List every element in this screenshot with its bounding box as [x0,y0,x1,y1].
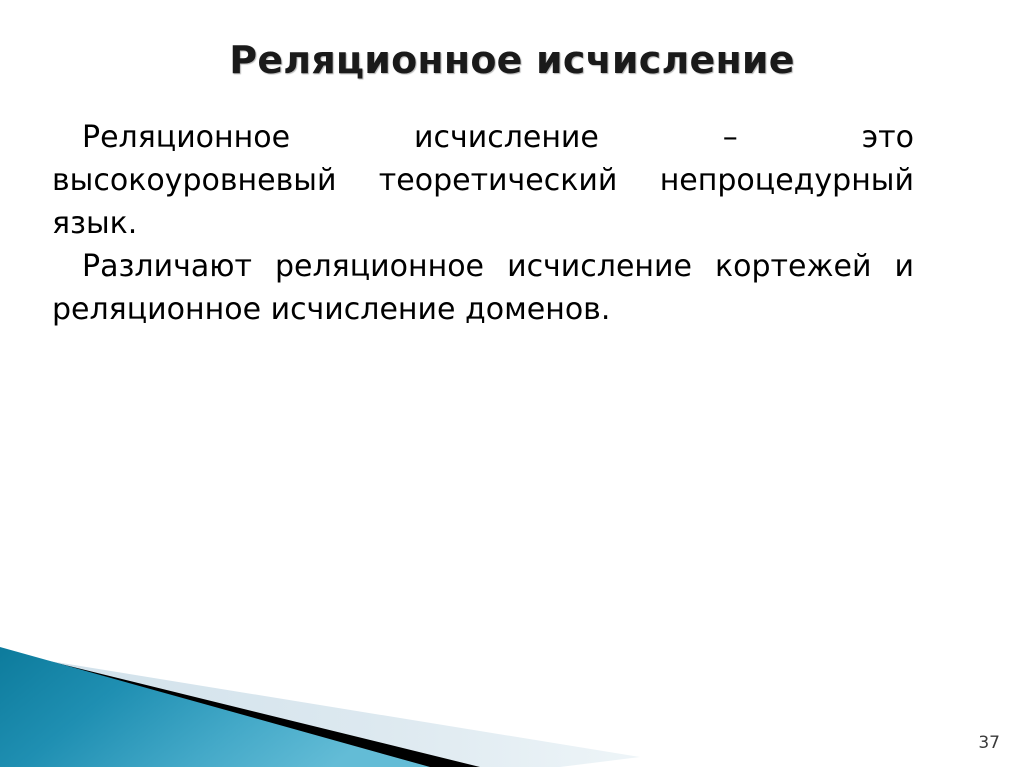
pale-blue-wedge [0,653,640,767]
body-paragraph-1-line-3: язык. [52,202,914,245]
slide: Реляционное исчисление Реляционное исчис… [0,0,1024,767]
slide-title-block: Реляционное исчисление [0,36,1024,84]
body-paragraph-2: Различают реляционное исчисление кортеже… [52,245,914,331]
slide-body: Реляционное исчисление – это высокоуровн… [52,116,914,331]
body-paragraph-1: Реляционное исчисление – это высокоуровн… [52,116,914,245]
body-paragraph-1-line-1: Реляционное исчисление – это [52,116,914,159]
page-title: Реляционное исчисление [229,36,794,84]
teal-wedge [0,647,430,767]
body-paragraph-2-line-2: реляционное исчисление доменов. [52,288,914,331]
body-paragraph-1-line-2: высокоуровневый теоретический непроцедур… [52,159,914,202]
corner-decoration-graphic [0,637,1024,767]
page-number: 37 [978,733,1000,753]
black-stripe [0,649,480,767]
body-paragraph-2-line-1: Различают реляционное исчисление кортеже… [52,245,914,288]
